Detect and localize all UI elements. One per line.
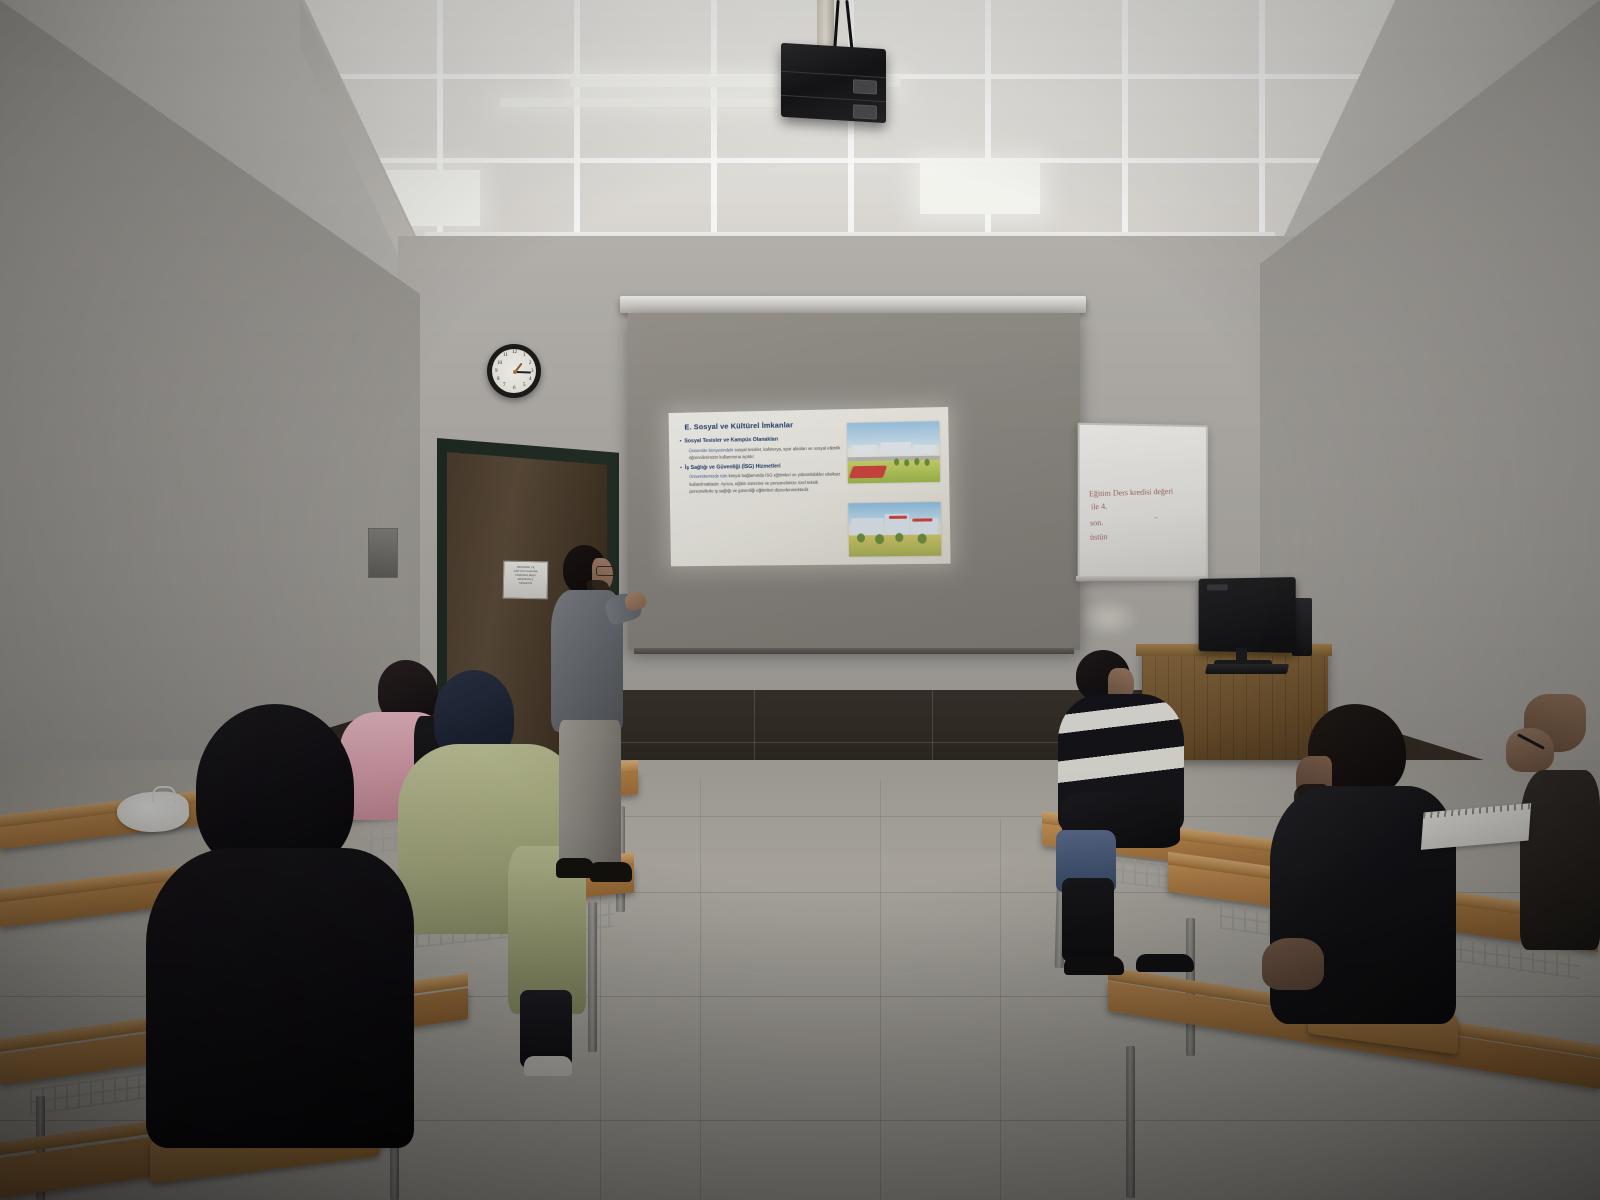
slide-bullet-body-lead: Üniversitemizde tüm bbox=[689, 474, 727, 480]
campus-building-photo bbox=[848, 502, 941, 556]
plastic-bag-handle bbox=[152, 786, 176, 802]
whiteboard-text: ile 4. bbox=[1091, 502, 1107, 512]
glasses-icon bbox=[596, 566, 616, 576]
projected-slide: E. Sosyal ve Kültürel İmkanlar • Sosyal … bbox=[669, 407, 951, 566]
ceiling-light-panel bbox=[920, 162, 1040, 214]
projector-lens bbox=[853, 79, 877, 94]
campus-aerial-photo bbox=[847, 421, 940, 483]
presenter-legs bbox=[559, 720, 621, 868]
clock-numeral: 6 bbox=[513, 386, 516, 391]
classroom-scene: 12 1 2 3 4 5 6 7 8 9 10 11 PENCERE VE ÇÖ… bbox=[0, 0, 1600, 1200]
desk-leg bbox=[1126, 1046, 1135, 1198]
clock-center-pin bbox=[513, 370, 517, 374]
clock-numeral: 12 bbox=[512, 350, 517, 355]
wall-light-reflection bbox=[1078, 598, 1140, 638]
whiteboard-text: üstün bbox=[1090, 532, 1108, 542]
clock-numeral: 2 bbox=[529, 361, 532, 366]
presenter-shoe bbox=[556, 858, 594, 878]
clock-minute-hand bbox=[515, 371, 531, 373]
clock-numeral: 11 bbox=[503, 353, 508, 358]
ceiling-projector[interactable] bbox=[781, 43, 886, 123]
clock-numeral: 4 bbox=[529, 377, 532, 382]
clock-numeral: 5 bbox=[523, 383, 526, 388]
whiteboard[interactable]: Eğitim Ders kredisi değeri ile 4. son. ü… bbox=[1078, 423, 1208, 582]
whiteboard-text: Eğitim Ders kredisi değeri bbox=[1089, 487, 1173, 499]
projection-screen-case[interactable] bbox=[620, 296, 1086, 313]
clock-numeral: 8 bbox=[497, 377, 500, 382]
slide-bullet-body: Üniversite bünyesindeki sosyal tesisler,… bbox=[689, 444, 844, 462]
desktop-monitor[interactable] bbox=[1199, 577, 1296, 653]
sign-line: YASAKTIR bbox=[504, 582, 547, 587]
ceiling-light-strip bbox=[500, 98, 780, 107]
whiteboard-marker-tray bbox=[1076, 576, 1208, 581]
bullet-marker-icon: • bbox=[680, 439, 682, 446]
presenter-shoe bbox=[590, 862, 632, 882]
slide-bullet-list: • Sosyal Tesisler ve Kampüs Olanakları Ü… bbox=[680, 435, 844, 499]
slide-title: E. Sosyal ve Kültürel İmkanlar bbox=[684, 420, 793, 431]
whiteboard-text: son. bbox=[1090, 518, 1104, 528]
clock-numeral: 9 bbox=[495, 369, 498, 374]
projector-port bbox=[853, 104, 877, 119]
wall-clock: 12 1 2 3 4 5 6 7 8 9 10 11 bbox=[487, 344, 541, 398]
slide-bullet-body-lead: Üniversite bünyesindeki bbox=[689, 447, 734, 453]
slide-bullet-body: Üniversitemizde tüm kimyık bağlamında İS… bbox=[689, 471, 844, 496]
desk-leg bbox=[588, 902, 597, 1052]
clock-numeral: 3 bbox=[531, 369, 534, 374]
keyboard[interactable] bbox=[1205, 664, 1289, 674]
wall-speaker-panel bbox=[368, 528, 398, 578]
projection-screen-weight-bar bbox=[634, 648, 1074, 654]
clock-numeral: 10 bbox=[497, 361, 502, 366]
clock-numeral: 7 bbox=[503, 383, 506, 388]
door-warning-sign: PENCERE VE ÇÖP KUTULARINA DOKUNULMASI KE… bbox=[503, 561, 549, 600]
monitor-logo bbox=[1207, 584, 1228, 590]
clock-face: 12 1 2 3 4 5 6 7 8 9 10 11 bbox=[492, 349, 536, 393]
clock-numeral: 1 bbox=[523, 353, 526, 358]
bullet-marker-icon: • bbox=[680, 465, 682, 472]
